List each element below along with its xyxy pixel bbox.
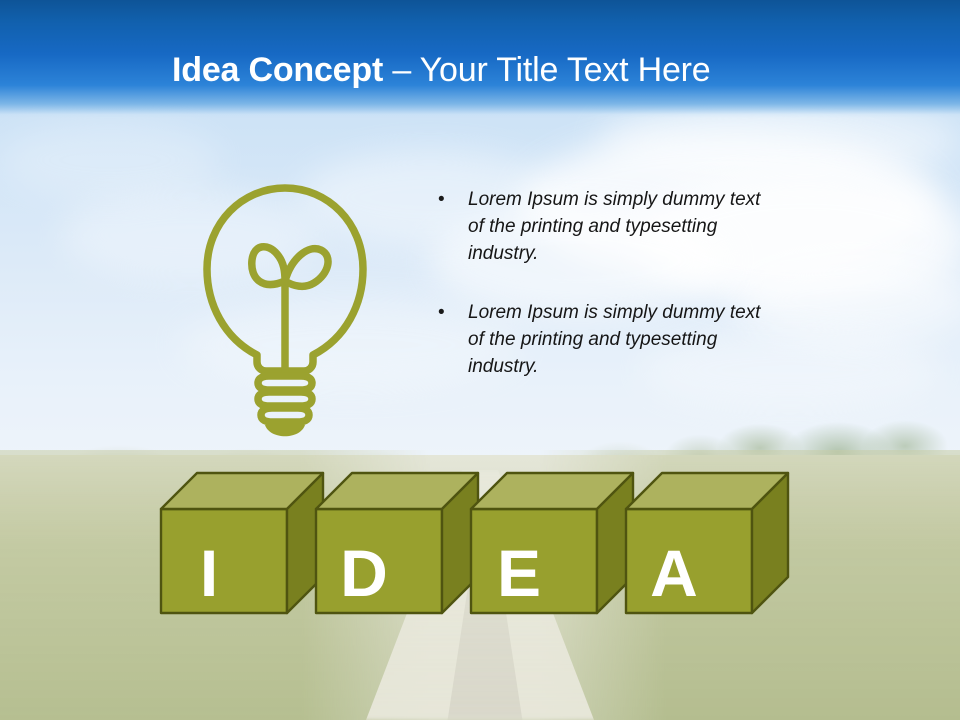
body-bullet-list: • Lorem Ipsum is simply dummy text of th… — [432, 186, 762, 412]
page-title-bold: Idea Concept — [172, 51, 383, 89]
idea-cubes-group: I D E A — [150, 460, 810, 630]
cloud-shape — [0, 120, 220, 200]
slide-canvas: Idea Concept – Your Title Text Here — [0, 0, 960, 720]
list-item: • Lorem Ipsum is simply dummy text of th… — [432, 299, 762, 380]
page-title-light: – Your Title Text Here — [392, 51, 710, 89]
lightbulb-sprout-icon — [196, 140, 376, 440]
list-item: • Lorem Ipsum is simply dummy text of th… — [432, 186, 762, 267]
cube-letter: E — [484, 540, 554, 606]
bullet-text: Lorem Ipsum is simply dummy text of the … — [468, 186, 762, 267]
cube-letter: D — [329, 540, 399, 606]
cube-letter: I — [174, 540, 244, 606]
bullet-marker-icon: • — [432, 186, 468, 267]
bullet-text: Lorem Ipsum is simply dummy text of the … — [468, 299, 762, 380]
page-title: Idea Concept – Your Title Text Here — [172, 50, 711, 90]
cube-letter: A — [639, 540, 709, 606]
bullet-marker-icon: • — [432, 299, 468, 380]
